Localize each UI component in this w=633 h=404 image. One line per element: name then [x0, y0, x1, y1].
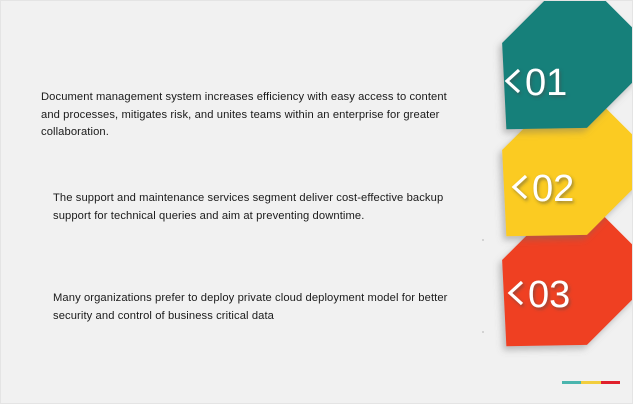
band-01-label-group: 01	[507, 62, 567, 104]
band-03[interactable]: 03	[461, 187, 633, 386]
color-bar-segment-2	[581, 381, 600, 384]
band-03-shape	[461, 187, 633, 386]
band-02[interactable]: 02	[461, 77, 633, 276]
stray-speck	[482, 239, 484, 241]
band-02-shape	[461, 77, 633, 276]
point-text-01: Document management system increases eff…	[41, 89, 451, 142]
band-02-number: 02	[532, 168, 574, 210]
band-03-number: 03	[528, 274, 570, 316]
point-text-02: The support and maintenance services seg…	[53, 190, 473, 225]
color-bar-segment-3	[601, 381, 620, 384]
brand-color-bar	[562, 381, 620, 384]
stray-speck	[482, 331, 484, 333]
band-01[interactable]: 01	[461, 1, 633, 169]
chevron-left-icon	[507, 70, 519, 92]
chevron-left-icon	[510, 282, 522, 304]
band-01-number: 01	[525, 62, 567, 104]
band-03-label-group: 03	[510, 274, 570, 316]
band-02-label-group: 02	[514, 168, 574, 210]
infographic-slide: Document management system increases eff…	[0, 0, 633, 404]
point-text-03: Many organizations prefer to deploy priv…	[53, 290, 478, 325]
band-01-shape	[461, 1, 633, 169]
color-bar-segment-1	[562, 381, 581, 384]
chevron-left-icon	[514, 176, 526, 198]
